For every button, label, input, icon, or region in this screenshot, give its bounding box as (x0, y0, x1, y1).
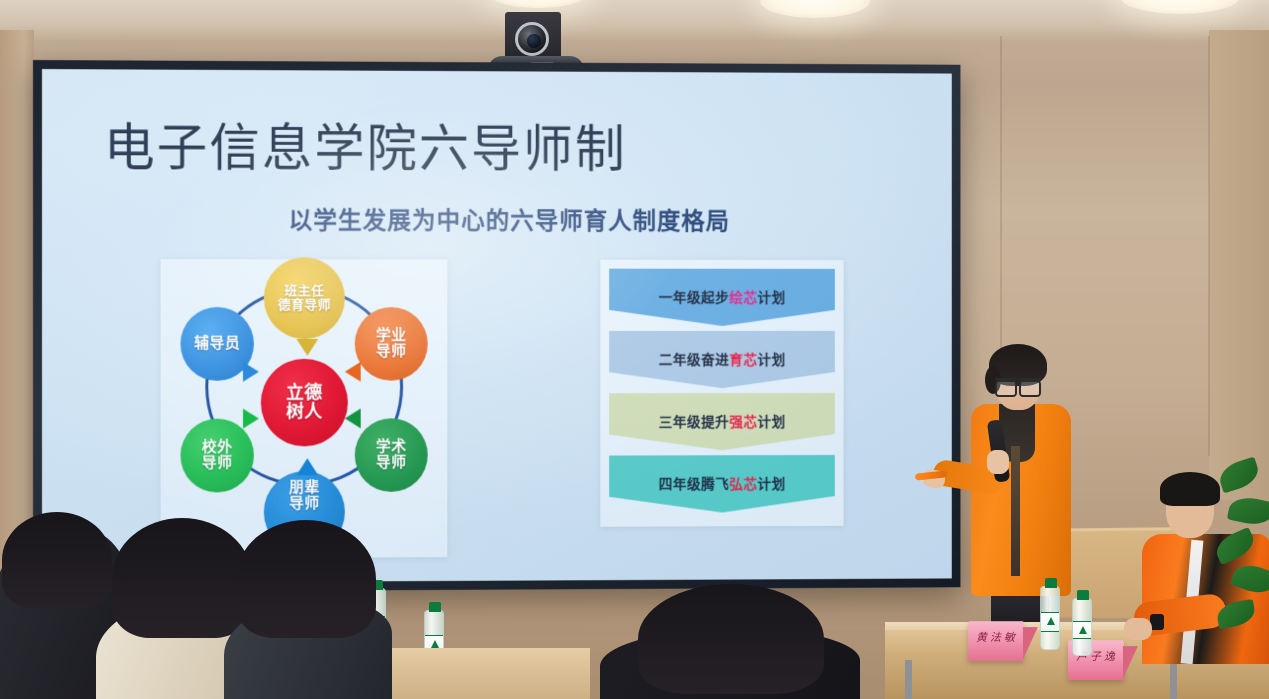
diagram-node-xueshu: 学术 导师 (355, 418, 428, 492)
banner-prefix: 四年级腾飞 (659, 474, 730, 494)
water-bottle-2 (1072, 598, 1092, 656)
arrow-left-icon-bottomright (345, 408, 361, 428)
center-label-line1: 立德 (286, 384, 323, 403)
center-label-line2: 树人 (286, 403, 323, 422)
diagram-node-xiaowai: 校外 导师 (180, 419, 253, 493)
glasses-icon (995, 378, 1041, 391)
ceiling (0, 0, 1269, 40)
bottle-cap (429, 602, 441, 612)
banner-year-4: 四年级腾飞弘芯计划 (609, 455, 835, 513)
conference-room-scene: 电子信息学院六导师制 以学生发展为中心的六导师育人制度格局 班主任 德育导师 (0, 0, 1269, 699)
node-label-line2: 德育导师 (278, 298, 331, 312)
node-label-line1: 班主任 (284, 284, 324, 298)
node-label-line1: 辅导员 (194, 336, 240, 352)
nameplate-1-text: 黄法敏 (976, 629, 1018, 645)
water-bottle-1 (1040, 586, 1060, 650)
arrow-right-icon-topleft (243, 362, 259, 382)
nameplate-1: 黄法敏 (968, 621, 1024, 661)
plant-leaf (1227, 494, 1269, 529)
banner-year-2: 二年级奋进育芯计划 (609, 331, 835, 388)
banner-highlight: 强芯 (729, 412, 757, 432)
bottle-cap (1045, 578, 1057, 588)
potted-plant (1215, 452, 1269, 652)
banner-suffix: 计划 (757, 288, 785, 308)
node-label-line1: 校外 (202, 440, 233, 456)
arrow-right-icon-bottomleft (243, 409, 259, 429)
banner-year-3: 三年级提升强芯计划 (609, 393, 835, 451)
slide-title: 电子信息学院六导师制 (104, 121, 627, 176)
banner-suffix: 计划 (757, 474, 785, 494)
diagram-node-banzhuren: 班主任 德育导师 (264, 257, 345, 339)
banner-prefix: 一年级起步 (659, 287, 730, 307)
banner-highlight: 绘芯 (729, 288, 757, 308)
arrow-down-icon (296, 339, 318, 356)
plant-leaf (1230, 560, 1269, 599)
banners-card: 一年级起步绘芯计划 二年级奋进育芯计划 三年级提升强芯计划 四年级腾飞弘芯计划 (600, 260, 843, 527)
banner-suffix: 计划 (757, 412, 785, 432)
presenter-zipper (1011, 446, 1020, 576)
six-mentor-diagram: 班主任 德育导师 学业 导师 学术 导师 朋辈 导师 (161, 259, 448, 558)
diagram-center-lidehsuren: 立德 树人 (261, 359, 348, 447)
plant-leaf (1215, 599, 1257, 629)
node-label-line2: 导师 (376, 344, 407, 360)
presenter-mic-hand (987, 450, 1009, 474)
node-label-line1: 朋辈 (289, 480, 320, 496)
banner-highlight: 育芯 (729, 350, 757, 370)
diagram-card: 班主任 德育导师 学业 导师 学术 导师 朋辈 导师 (161, 259, 448, 558)
presenter (955, 342, 1080, 632)
arrow-left-icon-topright (345, 362, 361, 382)
bottle-label (1073, 621, 1091, 639)
banner-prefix: 二年级奋进 (659, 350, 730, 370)
panelist-hair (1160, 472, 1220, 506)
banner-prefix: 三年级提升 (659, 412, 730, 432)
panelist-hand (1124, 618, 1152, 640)
banner-suffix: 计划 (757, 350, 785, 370)
arrow-up-icon (296, 458, 318, 475)
video-camera-icon (515, 22, 549, 56)
bottle-label (1041, 612, 1059, 632)
audience-member-1-hair (2, 512, 112, 608)
audience-member-4-hair (638, 584, 824, 694)
node-label-line1: 学术 (376, 439, 407, 455)
node-label-line2: 导师 (289, 496, 320, 512)
diagram-node-xueye: 学业 导师 (355, 307, 428, 381)
bottle-cap (1077, 590, 1089, 600)
node-label-line2: 导师 (202, 455, 233, 471)
wall-panel-right (1209, 30, 1269, 500)
banner-highlight: 弘芯 (729, 474, 757, 494)
wall-seam-2 (1208, 36, 1210, 456)
wristwatch-icon (1150, 614, 1164, 630)
node-label-line1: 学业 (376, 328, 407, 344)
audience-member-3-hair (236, 520, 376, 638)
slide-subtitle: 以学生发展为中心的六导师育人制度格局 (289, 201, 730, 237)
audience-member-2-hair (112, 518, 252, 638)
node-label-line2: 导师 (376, 455, 407, 471)
projection-screen-bezel: 电子信息学院六导师制 以学生发展为中心的六导师育人制度格局 班主任 德育导师 (33, 60, 960, 592)
panel-table-leg-left (905, 660, 912, 699)
plant-leaf (1216, 456, 1262, 493)
presentation-slide: 电子信息学院六导师制 以学生发展为中心的六导师育人制度格局 班主任 德育导师 (42, 69, 952, 583)
plant-leaf (1212, 527, 1258, 565)
banner-year-1: 一年级起步绘芯计划 (609, 269, 835, 326)
